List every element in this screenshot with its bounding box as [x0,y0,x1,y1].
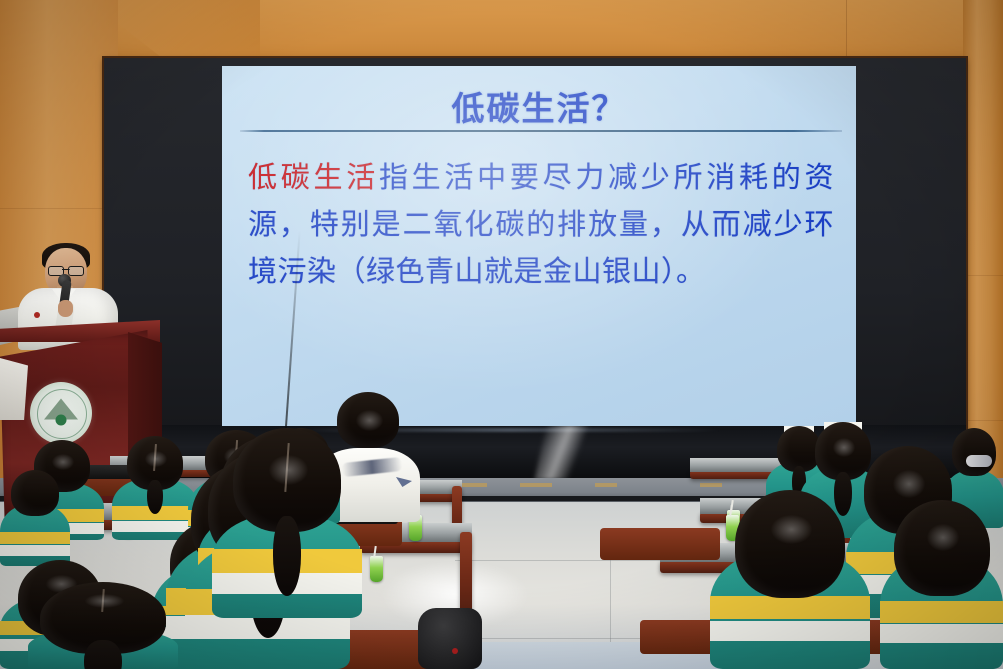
backpack-logo [452,648,458,654]
projection-screen: 低碳生活？ 低碳生活指生活中要尽力减少所消耗的资源，特别是二氧化碳的排放量，从而… [222,66,856,426]
chair-back [600,528,720,560]
student-with-braid [212,428,362,618]
student-foreground [28,582,178,669]
drink-cup [370,556,383,582]
slide-title: 低碳生活？ [222,82,856,130]
slide-highlight-term: 低碳生活 [248,160,379,194]
student [880,500,1003,669]
speaker-glasses [48,266,84,274]
floor-vent [595,483,617,487]
floor-vent [520,483,552,487]
student-foreground-right [710,490,870,669]
wall-seam-right [963,275,1003,276]
speaker-hand [58,300,73,317]
backpack [418,608,482,669]
wall-seam-right [963,420,1003,421]
wood-wall-right [963,0,1003,480]
lecture-hall-photo: 低碳生活？ 低碳生活指生活中要尽力减少所消耗的资源，特别是二氧化碳的排放量，从而… [0,0,1003,669]
wall-seam-left [0,208,118,209]
paper-sheet [0,358,28,420]
speaker-shirt-logo [34,312,40,318]
school-crest-icon [30,382,92,444]
slide-body-text: 低碳生活指生活中要尽力减少所消耗的资源，特别是二氧化碳的排放量，从而减少环境污染… [248,154,834,295]
student [0,470,70,566]
floor-vent [700,483,722,487]
slide-divider-rule [240,130,842,132]
